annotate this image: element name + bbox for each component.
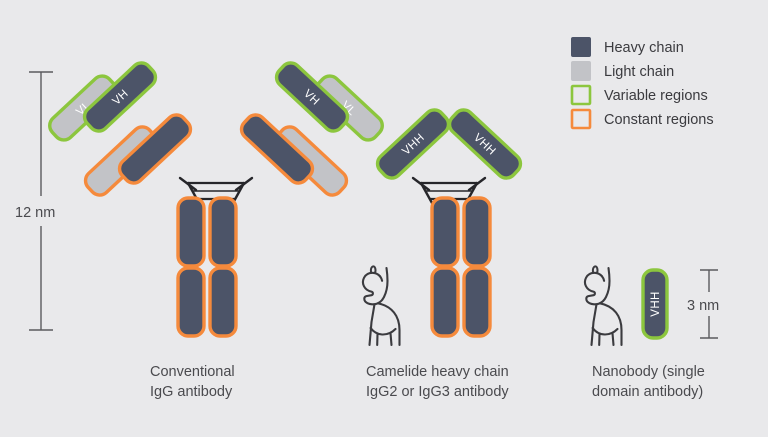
legend-item-light-chain: Light chain: [572, 62, 674, 80]
igg-fc-right-ch3: [210, 268, 236, 336]
legend-swatch-constant-regions: [572, 110, 590, 128]
legend-swatch-heavy-chain: [572, 38, 590, 56]
caption-nanobody-line2: domain antibody): [592, 384, 703, 400]
igg-fc-left-ch2: [178, 198, 204, 266]
caption-camelid-line2: IgG2 or IgG3 antibody: [366, 384, 509, 400]
legend-label-heavy-chain: Heavy chain: [604, 40, 684, 56]
nanobody-vhh-label: VHH: [650, 291, 662, 316]
legend-label-constant-regions: Constant regions: [604, 112, 714, 128]
diagram-canvas: Heavy chain Light chain Variable regions…: [0, 0, 768, 437]
camelid-fc-left-ch3: [432, 268, 458, 336]
scale-label-3nm: 3 nm: [687, 298, 719, 314]
antibody-comparison-diagram: Heavy chain Light chain Variable regions…: [0, 0, 768, 437]
nanobody-vhh-domain: VHH: [643, 270, 667, 338]
camelid-fc-right-ch2: [464, 198, 490, 266]
legend-swatch-variable-regions: [572, 86, 590, 104]
legend-swatch-light-chain: [572, 62, 590, 80]
igg-fc-right-ch2: [210, 198, 236, 266]
igg-fc-left-ch3: [178, 268, 204, 336]
legend-label-light-chain: Light chain: [604, 64, 674, 80]
scale-label-12nm: 12 nm: [15, 205, 55, 221]
caption-conventional-igg-line2: IgG antibody: [150, 384, 233, 400]
camelid-fc-left-ch2: [432, 198, 458, 266]
caption-camelid-line1: Camelide heavy chain: [366, 364, 509, 380]
caption-nanobody-line1: Nanobody (single: [592, 364, 705, 380]
caption-conventional-igg-line1: Conventional: [150, 364, 235, 380]
legend-item-heavy-chain: Heavy chain: [572, 38, 684, 56]
legend-label-variable-regions: Variable regions: [604, 88, 708, 104]
camelid-fc-right-ch3: [464, 268, 490, 336]
